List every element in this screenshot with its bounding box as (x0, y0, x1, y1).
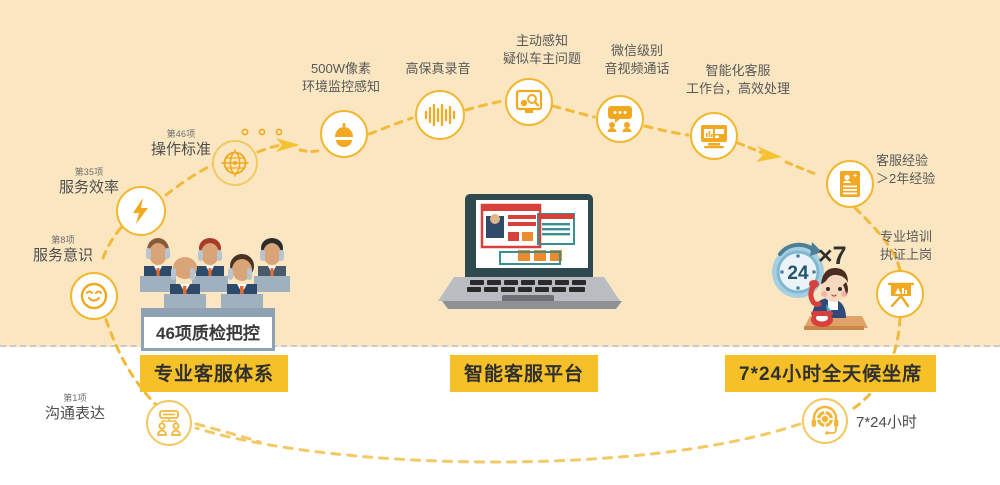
banner-professional-service: 专业客服体系 (140, 355, 288, 392)
easel-board-icon (885, 280, 915, 308)
band-top-bar (141, 308, 275, 314)
node-av-call[interactable] (596, 95, 644, 143)
globe-grid-icon (220, 148, 250, 178)
resume-profile-icon: + (837, 170, 863, 198)
quality-control-band: 46项质检把控 (141, 314, 275, 351)
node-247[interactable] (802, 398, 848, 444)
headset-support-icon (810, 407, 840, 435)
lightning-bolt-icon (128, 196, 154, 226)
label-training: 专业培训 执证上岗 (880, 228, 1000, 263)
node-active-sensing[interactable] (505, 78, 553, 126)
meeting-people-icon (154, 409, 184, 437)
label-workbench: 智能化客服 工作台，高效处理 (658, 62, 818, 97)
node-operation-standard[interactable] (212, 140, 258, 186)
node-camera[interactable] (320, 110, 368, 158)
node-service-efficiency[interactable] (116, 186, 166, 236)
dome-camera-icon (330, 120, 358, 148)
operator-telephone-illustration (792, 264, 868, 334)
monitor-search-icon (515, 89, 543, 115)
smiley-face-icon (79, 281, 109, 311)
ellipsis-dots-icon (240, 126, 290, 138)
label-service-awareness: 第8项 服务意识 (8, 234, 118, 266)
svg-text:+: + (853, 173, 857, 180)
node-experience[interactable]: + (826, 160, 874, 208)
node-workbench[interactable] (690, 112, 738, 160)
node-communication[interactable] (146, 400, 192, 446)
label-247: 7*24小时 (856, 411, 917, 432)
label-communication: 第1项 沟通表达 (20, 392, 130, 424)
audio-waveform-icon (423, 103, 457, 127)
node-training[interactable] (876, 270, 924, 318)
node-service-awareness[interactable] (70, 272, 118, 320)
infographic-canvas: 第8项 服务意识 第35项 服务效率 第46项 操作标准 (0, 0, 1000, 485)
video-chat-icon (605, 105, 635, 133)
banner-247-seats: 7*24小时全天候坐席 (725, 355, 936, 392)
label-experience: 客服经验 ＞2年经验 (876, 152, 996, 187)
laptop-crm-screen-icon (440, 192, 620, 317)
node-recording[interactable] (415, 90, 465, 140)
dashboard-monitor-icon (699, 123, 729, 149)
quality-control-label: 46项质检把控 (144, 317, 272, 348)
banner-smart-platform: 智能客服平台 (450, 355, 598, 392)
